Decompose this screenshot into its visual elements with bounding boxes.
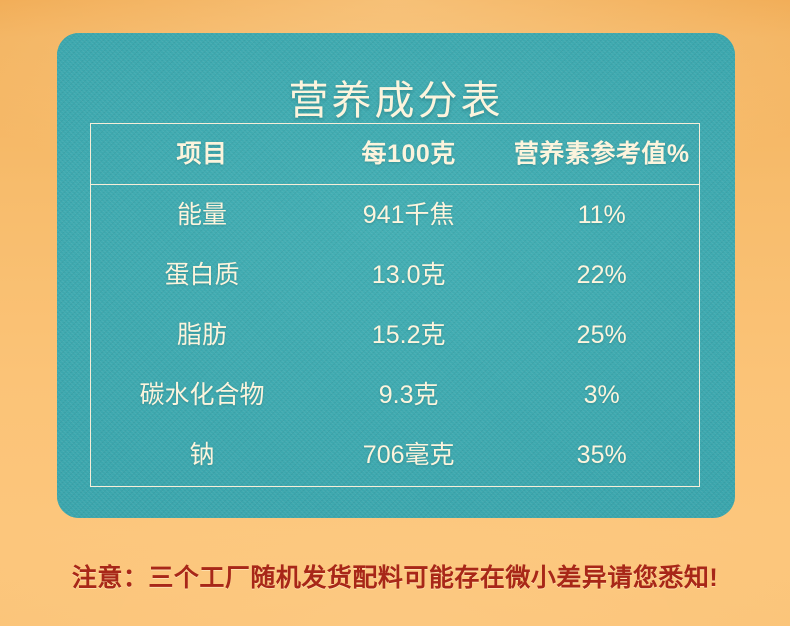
table-body: 能量 941千焦 11% 蛋白质 13.0克 22% 脂肪 15.2克 25% … bbox=[91, 185, 699, 485]
cell-value: 13.0克 bbox=[313, 245, 505, 305]
cell-nrv: 35% bbox=[504, 425, 699, 485]
cell-item: 能量 bbox=[91, 185, 313, 245]
table-row: 碳水化合物 9.3克 3% bbox=[91, 365, 699, 425]
cell-item: 碳水化合物 bbox=[91, 365, 313, 425]
header-nrv: 营养素参考值% bbox=[504, 124, 699, 184]
cell-nrv: 11% bbox=[504, 185, 699, 245]
table-row: 钠 706毫克 35% bbox=[91, 425, 699, 485]
cell-value: 9.3克 bbox=[313, 365, 505, 425]
table-row: 能量 941千焦 11% bbox=[91, 185, 699, 245]
table-header-row: 项目 每100克 营养素参考值% bbox=[91, 124, 699, 185]
nutrition-card: 营养成分表 项目 每100克 营养素参考值% 能量 941千焦 11% 蛋白质 … bbox=[57, 33, 735, 518]
cell-nrv: 25% bbox=[504, 305, 699, 365]
header-per-100g: 每100克 bbox=[313, 124, 505, 184]
cell-value: 15.2克 bbox=[313, 305, 505, 365]
cell-item: 蛋白质 bbox=[91, 245, 313, 305]
nutrition-table: 项目 每100克 营养素参考值% 能量 941千焦 11% 蛋白质 13.0克 … bbox=[90, 123, 700, 487]
table-row: 蛋白质 13.0克 22% bbox=[91, 245, 699, 305]
cell-value: 941千焦 bbox=[313, 185, 505, 245]
table-row: 脂肪 15.2克 25% bbox=[91, 305, 699, 365]
disclaimer-notice: 注意：三个工厂随机发货配料可能存在微小差异请您悉知! bbox=[0, 558, 790, 594]
cell-nrv: 3% bbox=[504, 365, 699, 425]
header-item: 项目 bbox=[91, 124, 313, 184]
cell-item: 脂肪 bbox=[91, 305, 313, 365]
cell-nrv: 22% bbox=[504, 245, 699, 305]
page-title: 营养成分表 bbox=[57, 77, 735, 125]
cell-item: 钠 bbox=[91, 425, 313, 485]
cell-value: 706毫克 bbox=[313, 425, 505, 485]
